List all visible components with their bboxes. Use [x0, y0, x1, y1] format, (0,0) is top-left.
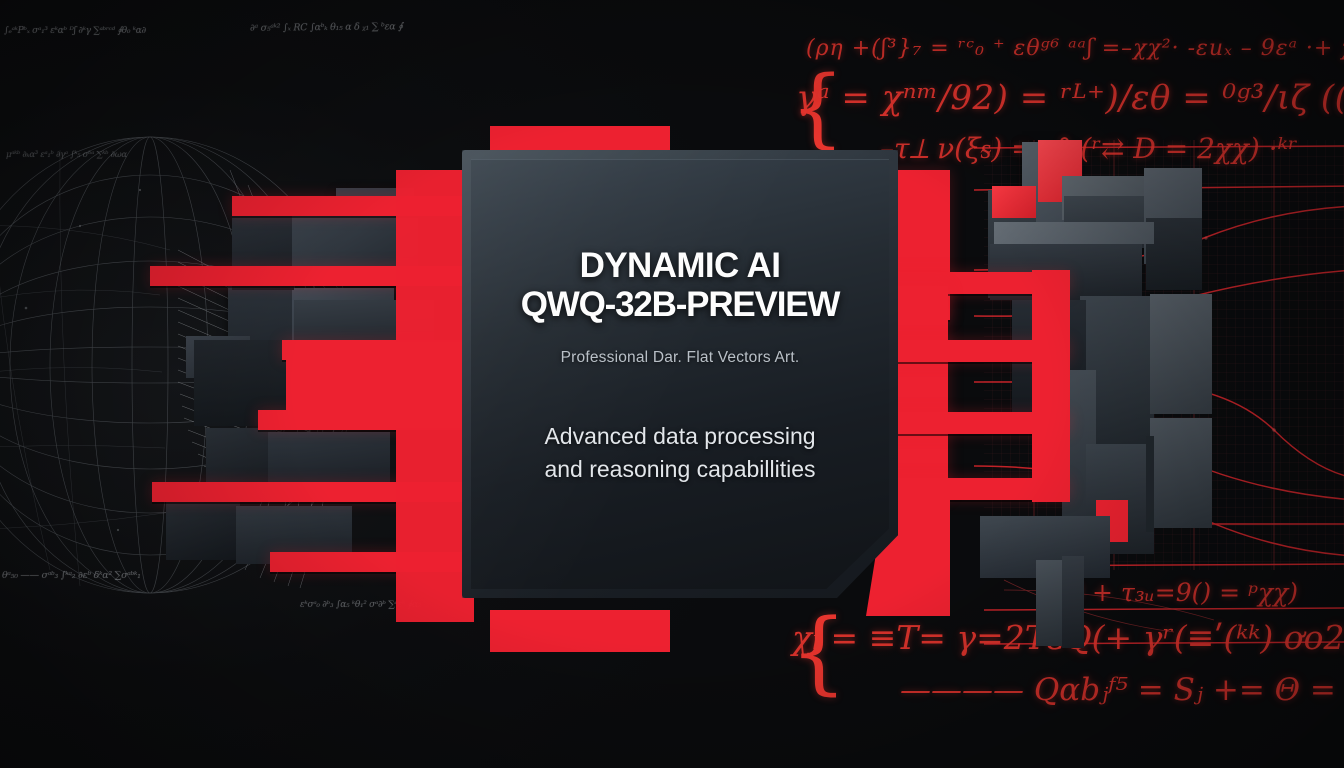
title-line-1: DYNAMIC AI — [580, 246, 781, 285]
red-equation-5: ———— Qαbⱼᶠ⁵ = Sⱼ += Θ = 18x)ʳ²ₑ == m₃ — [900, 672, 1344, 708]
iso-block — [206, 428, 276, 490]
iso-block — [1146, 436, 1154, 532]
red-equation-2: γᵃ = χⁿᵐ/92) = ʳᴸ⁺)/εθ = ⁰ᵍ³/ιζ ((χχ) = … — [796, 78, 1344, 118]
chalk-equation-top-mid: ∂ᵃ σ₅ᵃᵏ² ∫ₓ RC ∫αᵇₖ θ₁₅ α δ ᵪ₁ ∑ ᵇεα ∮ — [250, 21, 403, 34]
poster-canvas: ∫ₑᵃᵏPᵇₓ σᵃ₁³ εᵏαᵇ ᴰʃ ∂ᵏγ ∑ᵃᵇʳᶜᵈ ∮θ₀ ᵏα∂ … — [0, 0, 1344, 768]
chip-pin-left-block — [286, 342, 474, 428]
iso-block — [1062, 556, 1084, 648]
chip-body: DYNAMIC AI QWQ-32B-PREVIEW Professional … — [462, 150, 898, 598]
subtitle: Professional Dar. Flat Vectors Art. — [488, 349, 872, 367]
iso-block — [1150, 418, 1212, 528]
red-equation-1: (ρη +(ʃ³}₇ = ʳᶜ₀ ⁺ εθᵍ⁶ ᵃᵃʃ =–χχ²· -εuₓ … — [806, 36, 1344, 61]
chip-pin-bottom-back — [490, 610, 670, 652]
chip-pin-right-block — [1032, 270, 1070, 502]
title-line-2: QWQ-32B-PREVIEW — [488, 285, 872, 324]
equation-brace-top: { — [790, 58, 845, 158]
iso-block — [166, 500, 240, 560]
body-line-1: Advanced data processing — [488, 420, 872, 453]
body-line-2: and reasoning capabillities — [488, 453, 872, 486]
iso-block — [1150, 294, 1212, 414]
chip-text-block: DYNAMIC AI QWQ-32B-PREVIEW Professional … — [462, 246, 898, 486]
iso-block — [994, 222, 1154, 244]
page-title: DYNAMIC AI QWQ-32B-PREVIEW — [488, 246, 872, 324]
equation-brace-bottom: { — [790, 600, 847, 705]
iso-block-accent — [992, 186, 1036, 218]
iso-block — [1036, 560, 1062, 646]
iso-block — [1146, 218, 1202, 290]
body-text: Advanced data processing and reasoning c… — [488, 420, 872, 485]
chalk-equation-top-left: ∫ₑᵃᵏPᵇₓ σᵃ₁³ εᵏαᵇ ᴰʃ ∂ᵏγ ∑ᵃᵇʳᶜᵈ ∮θ₀ ᵏα∂ — [4, 26, 146, 37]
